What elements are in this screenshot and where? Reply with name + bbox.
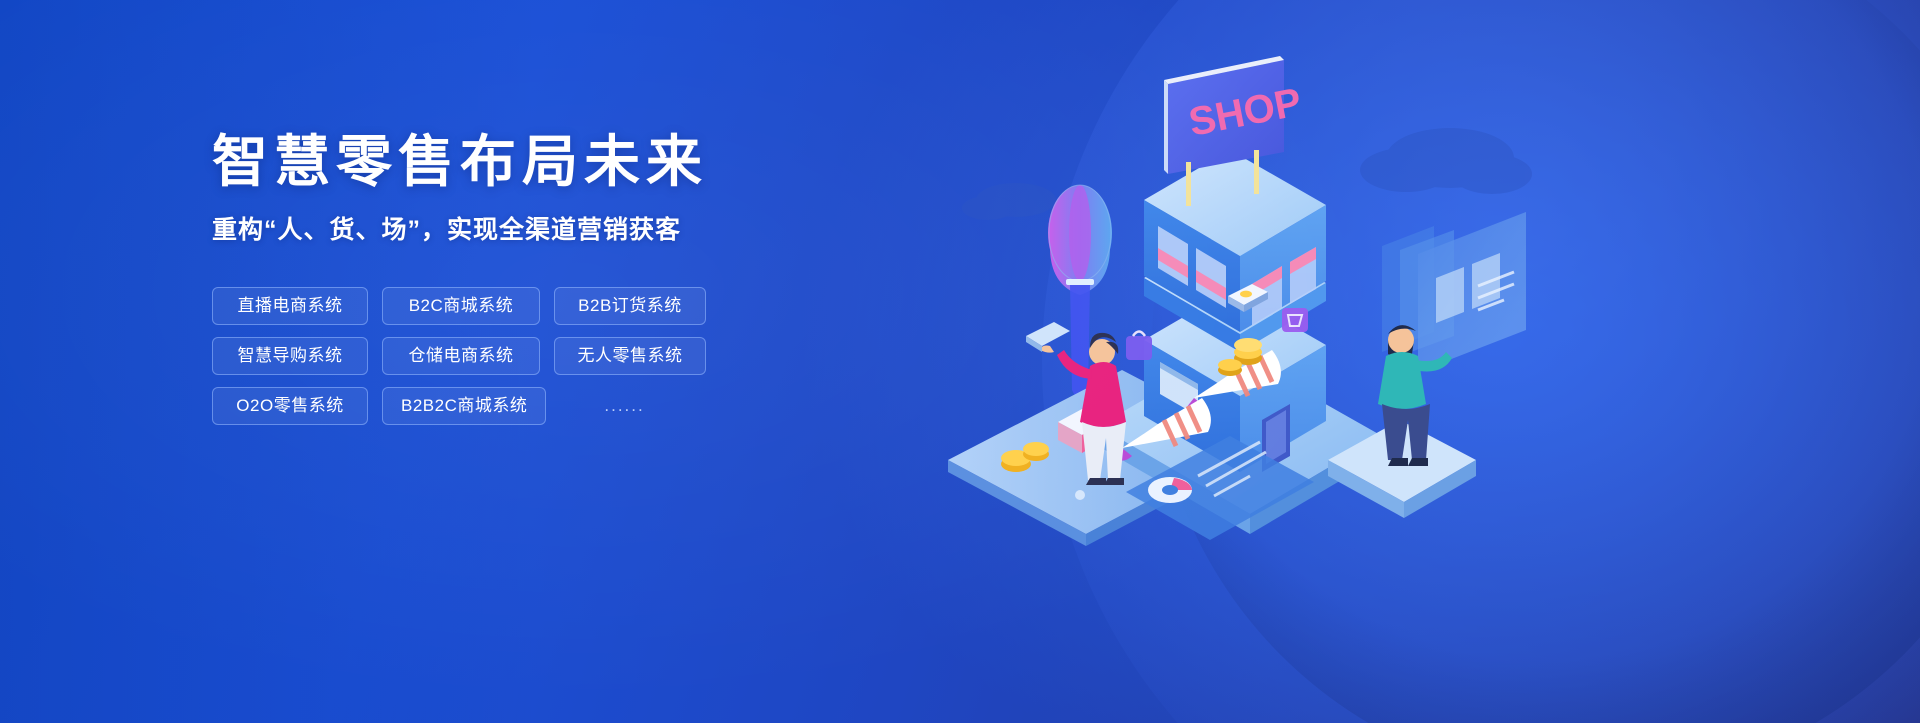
hero-copy: 智慧零售布局未来 重构“人、货、场”，实现全渠道营销获客 直播电商系统 B2C商…	[212, 132, 852, 437]
hero-banner: SHOP	[0, 0, 1920, 723]
tag-row: 直播电商系统 B2C商城系统 B2B订货系统	[212, 287, 852, 325]
cloud-icon	[1360, 128, 1532, 194]
tag-b2c-mall[interactable]: B2C商城系统	[382, 287, 540, 325]
tag-live-commerce[interactable]: 直播电商系统	[212, 287, 368, 325]
tag-warehouse-commerce[interactable]: 仓储电商系统	[382, 337, 540, 375]
tag-row: 智慧导购系统 仓储电商系统 无人零售系统	[212, 337, 852, 375]
tag-more-ellipsis: ......	[604, 396, 644, 416]
cart-icon	[1282, 308, 1308, 332]
tag-o2o-retail[interactable]: O2O零售系统	[212, 387, 368, 425]
bag-icon	[1126, 332, 1152, 361]
cloud-icon-small	[962, 183, 1056, 220]
tag-smart-guide[interactable]: 智慧导购系统	[212, 337, 368, 375]
page-subtitle: 重构“人、货、场”，实现全渠道营销获客	[212, 214, 852, 247]
tag-unmanned-retail[interactable]: 无人零售系统	[554, 337, 706, 375]
tag-row: O2O零售系统 B2B2C商城系统 ......	[212, 387, 852, 425]
tag-b2b2c-mall[interactable]: B2B2C商城系统	[382, 387, 546, 425]
retail-illustration: SHOP	[930, 40, 1570, 600]
tag-b2b-order[interactable]: B2B订货系统	[554, 287, 706, 325]
page-title: 智慧零售布局未来	[212, 132, 852, 192]
system-tag-list: 直播电商系统 B2C商城系统 B2B订货系统 智慧导购系统 仓储电商系统 无人零…	[212, 287, 852, 425]
pie-chart-icon	[1148, 477, 1192, 503]
